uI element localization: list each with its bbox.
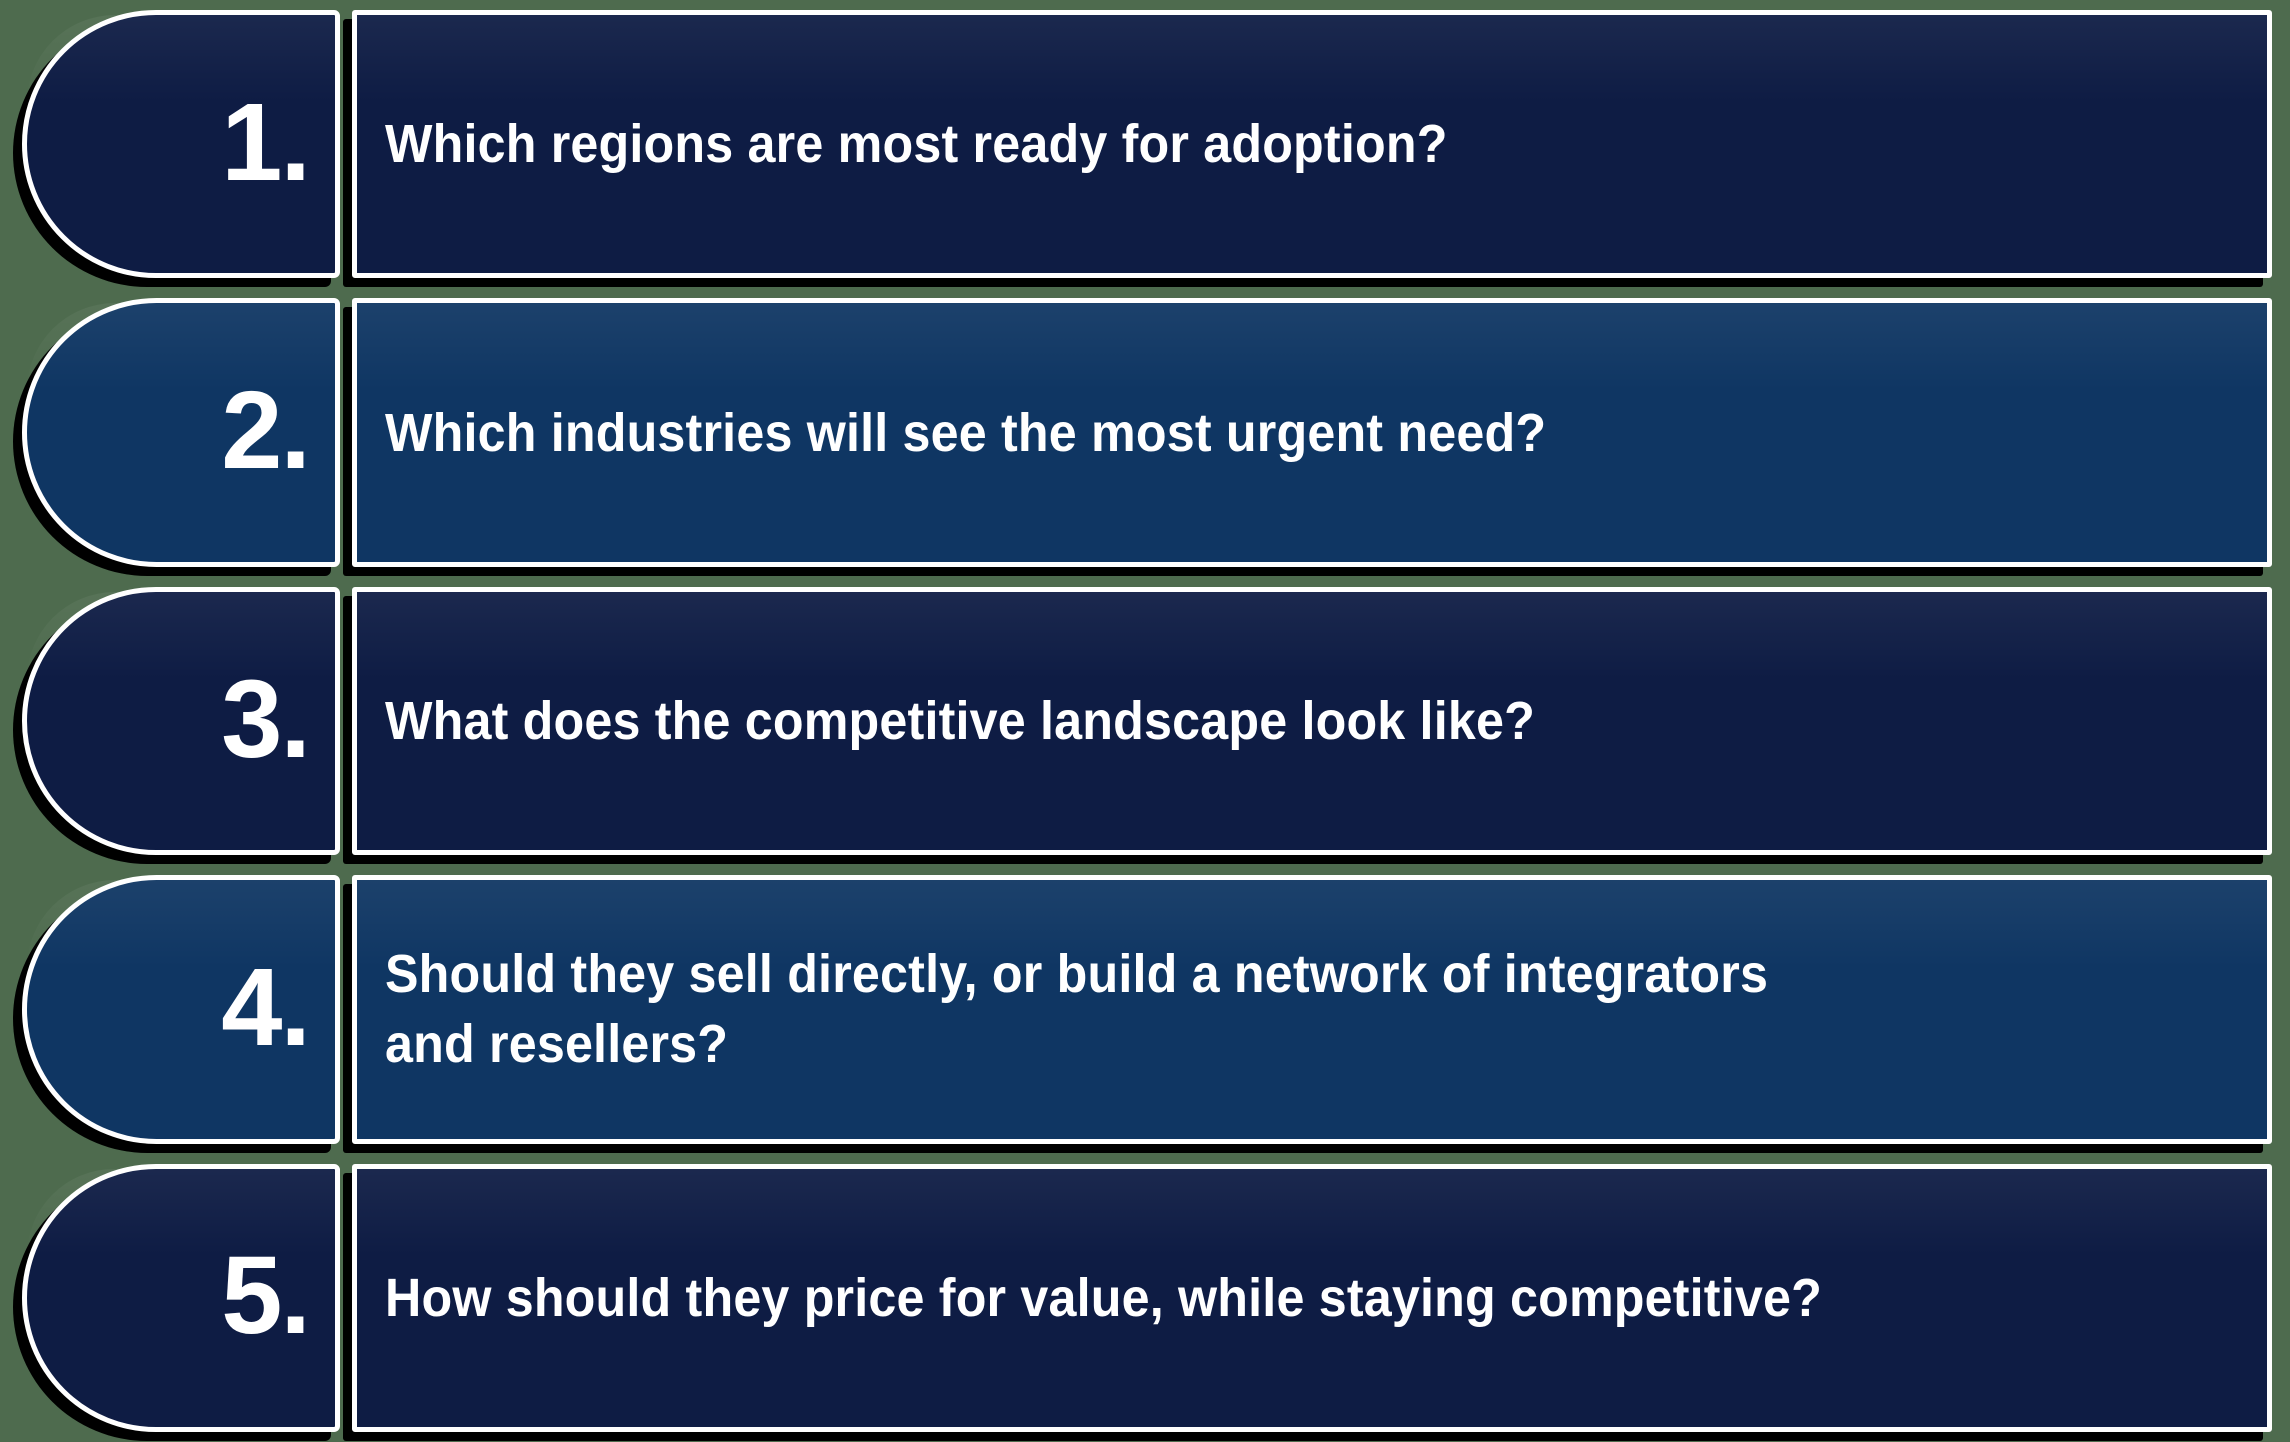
list-item[interactable]: 3. What does the competitive landscape l… xyxy=(0,577,2290,865)
item-number-badge-4[interactable]: 4. xyxy=(22,875,340,1143)
item-number-badge-1[interactable]: 1. xyxy=(22,10,340,278)
item-number-badge-3[interactable]: 3. xyxy=(22,587,340,855)
list-item[interactable]: 1. Which regions are most ready for adop… xyxy=(0,0,2290,288)
item-text-panel-5[interactable]: How should they price for value, while s… xyxy=(352,1164,2272,1432)
item-text-panel-3[interactable]: What does the competitive landscape look… xyxy=(352,587,2272,855)
numbered-question-board: 1. Which regions are most ready for adop… xyxy=(0,0,2290,1442)
item-number-badge-5[interactable]: 5. xyxy=(22,1164,340,1432)
item-number-label: 3. xyxy=(221,670,309,769)
item-text-panel-1[interactable]: Which regions are most ready for adoptio… xyxy=(352,10,2272,278)
item-question-text: Should they sell directly, or build a ne… xyxy=(385,939,1768,1079)
list-item[interactable]: 5. How should they price for value, whil… xyxy=(0,1154,2290,1442)
item-number-badge-2[interactable]: 2. xyxy=(22,298,340,566)
item-question-text: What does the competitive landscape look… xyxy=(385,687,1535,755)
item-text-panel-4[interactable]: Should they sell directly, or build a ne… xyxy=(352,875,2272,1143)
item-number-label: 1. xyxy=(221,93,309,192)
item-question-text: Which regions are most ready for adoptio… xyxy=(385,110,1448,178)
item-question-text: Which industries will see the most urgen… xyxy=(385,399,1546,467)
item-question-text: How should they price for value, while s… xyxy=(385,1264,1822,1332)
list-item[interactable]: 2. Which industries will see the most ur… xyxy=(0,288,2290,576)
item-number-label: 4. xyxy=(221,958,309,1057)
list-item[interactable]: 4. Should they sell directly, or build a… xyxy=(0,865,2290,1153)
item-text-panel-2[interactable]: Which industries will see the most urgen… xyxy=(352,298,2272,566)
item-number-label: 2. xyxy=(221,381,309,480)
item-number-label: 5. xyxy=(221,1246,309,1345)
